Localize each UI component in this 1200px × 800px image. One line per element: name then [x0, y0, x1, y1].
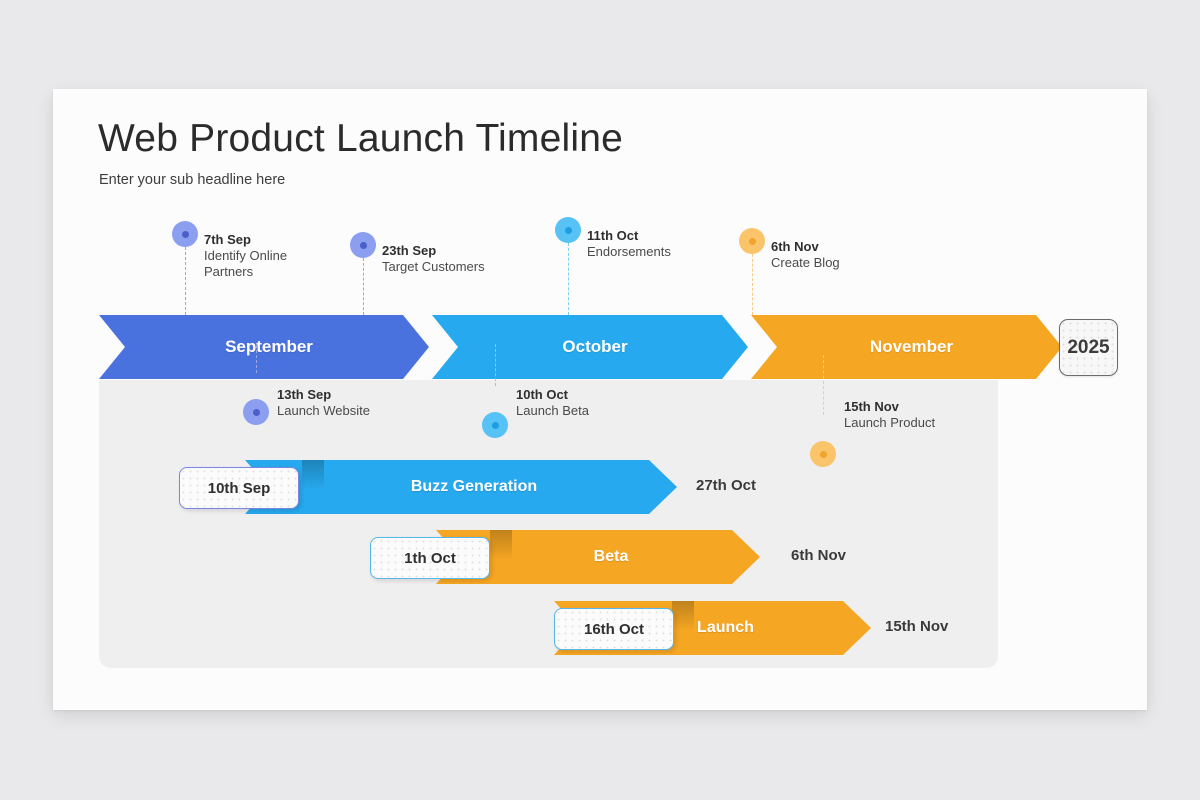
month-label: October: [562, 337, 627, 357]
task-label: Beta: [594, 548, 629, 566]
marker-core-icon: [182, 231, 189, 238]
milestone-date: 13th Sep: [277, 387, 370, 403]
marker-core-icon: [749, 238, 756, 245]
task-start-badge[interactable]: 10th Sep: [179, 467, 299, 509]
task-bar[interactable]: Buzz Generation: [245, 460, 677, 514]
milestone-date: 7th Sep: [204, 232, 287, 248]
marker-core-icon: [492, 422, 499, 429]
milestone-desc-line1: Endorsements: [587, 244, 671, 260]
task-end-date: 27th Oct: [696, 477, 756, 494]
month-strip: September October November 2025: [99, 315, 1109, 379]
milestone-text: 13th Sep Launch Website: [277, 387, 370, 419]
milestone-text: 6th Nov Create Blog: [771, 239, 840, 271]
marker-stem: [568, 243, 569, 315]
milestone-desc-line1: Create Blog: [771, 255, 840, 271]
task-start-badge[interactable]: 16th Oct: [554, 608, 674, 650]
milestone-text: 23th Sep Target Customers: [382, 243, 485, 275]
task-label: Buzz Generation: [411, 478, 537, 496]
milestone-desc-line1: Target Customers: [382, 259, 485, 275]
milestone-date: 10th Oct: [516, 387, 589, 403]
milestone-date: 15th Nov: [844, 399, 935, 415]
month-chevron-october[interactable]: October: [432, 315, 748, 379]
marker-stem: [752, 254, 753, 315]
marker-stem: [256, 345, 257, 373]
page-title: Web Product Launch Timeline: [98, 117, 623, 161]
task-row-launch[interactable]: Launch 16th Oct 15th Nov: [53, 601, 953, 655]
milestone-date: 23th Sep: [382, 243, 485, 259]
milestone-desc-line1: Launch Beta: [516, 403, 589, 419]
marker-stem: [823, 355, 824, 415]
month-chevron-september[interactable]: September: [99, 315, 429, 379]
milestone-text: 11th Oct Endorsements: [587, 228, 671, 260]
milestone-text: 15th Nov Launch Product: [844, 399, 935, 431]
task-start-badge[interactable]: 1th Oct: [370, 537, 490, 579]
milestone-desc-line1: Launch Website: [277, 403, 370, 419]
task-label: Launch: [697, 619, 754, 637]
milestone-text: 7th Sep Identify Online Partners: [204, 232, 287, 280]
marker-stem: [495, 344, 496, 386]
milestone-desc-line1: Identify Online: [204, 248, 287, 264]
milestone-date: 11th Oct: [587, 228, 671, 244]
task-start-date: 1th Oct: [404, 550, 456, 567]
task-row-buzz-generation[interactable]: Buzz Generation 10th Sep 27th Oct: [53, 460, 953, 514]
marker-core-icon: [360, 242, 367, 249]
marker-stem: [363, 258, 364, 315]
milestone-desc-line1: Launch Product: [844, 415, 935, 431]
marker-core-icon: [565, 227, 572, 234]
year-badge: 2025: [1059, 319, 1118, 376]
marker-core-icon: [253, 409, 260, 416]
marker-core-icon: [820, 451, 827, 458]
month-label: November: [870, 337, 953, 357]
slide-card: Web Product Launch Timeline Enter your s…: [53, 89, 1147, 710]
task-row-beta[interactable]: Beta 1th Oct 6th Nov: [53, 530, 953, 584]
month-chevron-november[interactable]: November: [751, 315, 1062, 379]
page-subtitle: Enter your sub headline here: [99, 172, 285, 188]
task-end-date: 15th Nov: [885, 618, 948, 635]
task-start-date: 16th Oct: [584, 621, 644, 638]
marker-stem: [185, 247, 186, 315]
milestone-date: 6th Nov: [771, 239, 840, 255]
milestone-desc-line2: Partners: [204, 264, 287, 280]
task-start-date: 10th Sep: [208, 480, 271, 497]
task-end-date: 6th Nov: [791, 547, 846, 564]
milestone-text: 10th Oct Launch Beta: [516, 387, 589, 419]
month-label: September: [225, 337, 313, 357]
